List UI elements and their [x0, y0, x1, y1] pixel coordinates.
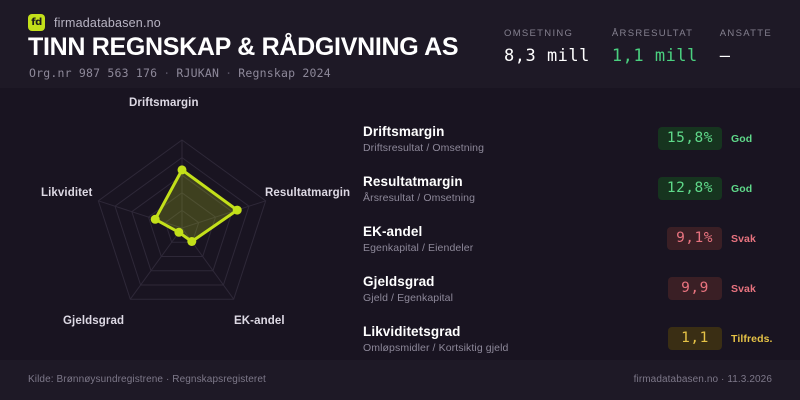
metric-row-ek-andel[interactable]: EK-andel Egenkapital / Eiendeler 9,1% Sv… [363, 224, 783, 264]
main-content: Driftsmargin Resultatmargin EK-andel Gje… [0, 88, 800, 360]
radar-axis-label-ek-andel: EK-andel [234, 315, 285, 327]
kpi-omsetning-label: OMSETNING [504, 28, 590, 39]
metric-value: 15,8% [658, 127, 722, 150]
footer: Kilde: Brønnøysundregistrene · Regnskaps… [0, 360, 800, 400]
metric-right: 9,9 Svak [668, 277, 783, 300]
page-title: TINN REGNSKAP & RÅDGIVNING AS [28, 33, 458, 62]
metric-right: 12,8% God [658, 177, 783, 200]
footer-source: Kilde: Brønnøysundregistrene · Regnskaps… [28, 374, 266, 385]
meta-separator-1: · [157, 66, 176, 80]
radar-point-gjeldsgrad [174, 228, 183, 237]
status-badge: Svak [731, 233, 783, 245]
metric-row-resultatmargin[interactable]: Resultatmargin Årsresultat / Omsetning 1… [363, 174, 783, 214]
kpi-ansatte-value: – [720, 46, 772, 66]
kpi-arsresultat-label: ÅRSRESULTAT [612, 28, 698, 39]
brand-name: firmadatabasen.no [54, 16, 161, 30]
status-badge: God [731, 133, 783, 145]
status-badge: God [731, 183, 783, 195]
metric-row-driftsmargin[interactable]: Driftsmargin Driftsresultat / Omsetning … [363, 124, 783, 164]
report-card: fd firmadatabasen.no TINN REGNSKAP & RÅD… [0, 0, 800, 400]
radar-point-resultatmargin [233, 206, 242, 215]
metric-right: 15,8% God [658, 127, 783, 150]
metric-value: 9,9 [668, 277, 722, 300]
company-period: Regnskap 2024 [238, 66, 331, 80]
status-badge: Svak [731, 283, 783, 295]
metric-row-likviditetsgrad[interactable]: Likviditetsgrad Omløpsmidler / Kortsikti… [363, 324, 783, 364]
kpi-arsresultat-value: 1,1 mill [612, 46, 698, 66]
metric-right: 1,1 Tilfreds. [668, 327, 783, 350]
kpi-group: OMSETNING 8,3 mill ÅRSRESULTAT 1,1 mill … [504, 28, 776, 66]
radar-axis-label-resultatmargin: Resultatmargin [265, 187, 350, 199]
radar-chart-svg [0, 88, 360, 360]
company-city: RJUKAN [176, 66, 219, 80]
footer-stamp: firmadatabasen.no · 11.3.2026 [634, 374, 772, 385]
header: fd firmadatabasen.no TINN REGNSKAP & RÅD… [0, 0, 800, 88]
radar-axis-label-gjeldsgrad: Gjeldsgrad [63, 315, 124, 327]
company-meta: Org.nr 987 563 176·RJUKAN·Regnskap 2024 [29, 66, 331, 80]
radar-chart: Driftsmargin Resultatmargin EK-andel Gje… [0, 88, 360, 360]
kpi-arsresultat: ÅRSRESULTAT 1,1 mill [612, 28, 720, 66]
kpi-omsetning: OMSETNING 8,3 mill [504, 28, 612, 66]
metrics-list: Driftsmargin Driftsresultat / Omsetning … [363, 124, 783, 374]
kpi-ansatte-label: ANSATTE [720, 28, 772, 39]
radar-point-driftsmargin [178, 165, 187, 174]
radar-axis-label-likviditet: Likviditet [41, 187, 92, 199]
meta-separator-2: · [219, 66, 238, 80]
firmadatabasen-logo-icon: fd [28, 14, 45, 31]
kpi-ansatte: ANSATTE – [720, 28, 776, 66]
company-orgnr: Org.nr 987 563 176 [29, 66, 157, 80]
radar-axis-label-driftsmargin: Driftsmargin [129, 97, 199, 109]
kpi-omsetning-value: 8,3 mill [504, 46, 590, 66]
radar-point-likviditet [151, 215, 160, 224]
metric-value: 1,1 [668, 327, 722, 350]
status-badge: Tilfreds. [731, 333, 783, 345]
metric-right: 9,1% Svak [667, 227, 783, 250]
metric-value: 9,1% [667, 227, 722, 250]
radar-point-ek-andel [187, 237, 196, 246]
metric-value: 12,8% [658, 177, 722, 200]
brand[interactable]: fd firmadatabasen.no [28, 14, 161, 31]
metric-row-gjeldsgrad[interactable]: Gjeldsgrad Gjeld / Egenkapital 9,9 Svak [363, 274, 783, 314]
